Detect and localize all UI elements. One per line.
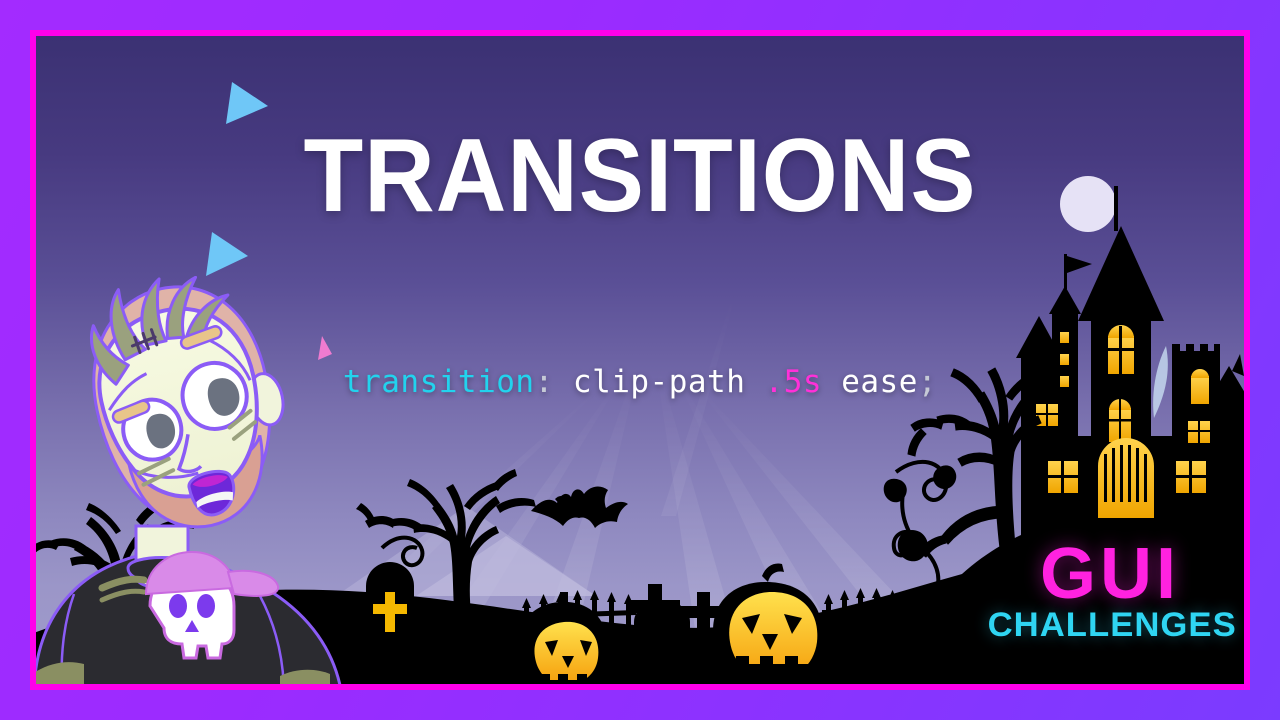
- code-duration: .5s: [765, 364, 823, 400]
- confetti-triangle-blue-1: [226, 82, 268, 124]
- confetti-triangle-blue-2: [206, 232, 248, 276]
- code-property: transition: [343, 364, 535, 400]
- code-semicolon: ;: [918, 364, 937, 400]
- logo-challenges-text: CHALLENGES: [988, 608, 1233, 642]
- halloween-scene: TRANSITIONS transition: clip-path .5s ea…: [36, 36, 1244, 684]
- gui-challenges-logo: GUI CHALLENGES: [990, 540, 1230, 672]
- page-title: TRANSITIONS: [72, 124, 1208, 228]
- code-colon: :: [535, 364, 554, 400]
- code-easing: ease: [841, 364, 918, 400]
- code-value: clip-path: [573, 364, 745, 400]
- presenter-avatar: [36, 276, 358, 684]
- logo-gui-text: GUI: [990, 540, 1230, 608]
- pumpkin-right: [713, 564, 822, 685]
- avatar-head: [73, 276, 305, 544]
- video-frame: TRANSITIONS transition: clip-path .5s ea…: [30, 30, 1250, 690]
- code-snippet: transition: clip-path .5s ease;: [36, 364, 1244, 400]
